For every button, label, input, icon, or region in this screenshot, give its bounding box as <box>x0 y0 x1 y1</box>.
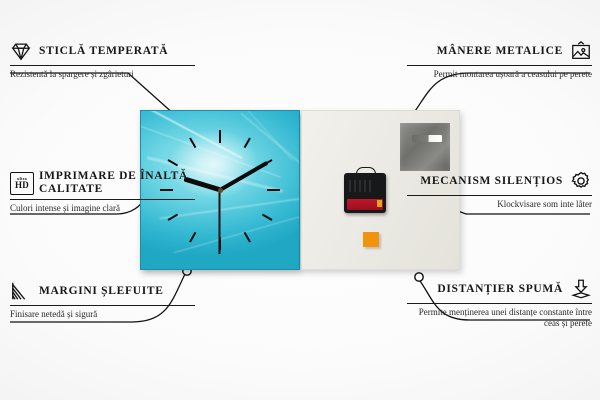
callout-subtitle: Permite menținerea unei distanțe constan… <box>407 307 592 329</box>
foam-spacer <box>363 232 379 247</box>
callout-subtitle: Finisare netedă și sigură <box>10 309 195 320</box>
clock-center-cap <box>218 188 223 193</box>
callout-head: MARGINI ȘLEFUITE <box>10 280 195 302</box>
foam-spacer-arrow-icon <box>570 278 592 300</box>
callout-mecanism-silentios: MECANISM SILENȚIOS Klockvisare som inte … <box>407 170 592 210</box>
callout-rule <box>10 305 195 306</box>
metal-hanger-plate <box>400 123 450 171</box>
badge-text-hd: HD <box>15 181 29 190</box>
callout-rule <box>407 195 592 196</box>
ultra-hd-badge-icon: ultra HD <box>10 172 32 194</box>
callout-subtitle: Culori intense și imagine clară <box>10 203 195 214</box>
callout-title: IMPRIMARE DE ÎNALTĂ CALITATE <box>39 170 195 196</box>
callout-head: STICLĂ TEMPERATĂ <box>10 40 195 62</box>
diamond-icon <box>10 40 32 62</box>
clock-tick <box>219 130 221 190</box>
callout-title: MECANISM SILENȚIOS <box>420 175 563 188</box>
callout-distantier-spuma: DISTANȚIER SPUMĂ Permite menținerea unei… <box>407 278 592 329</box>
callout-rule <box>407 303 592 304</box>
callout-title: MÂNERE METALICE <box>437 45 563 58</box>
callout-subtitle: Permit montarea ușoară a ceasului pe per… <box>407 69 592 80</box>
aa-battery <box>347 199 383 210</box>
callout-title: STICLĂ TEMPERATĂ <box>39 45 168 58</box>
gear-icon <box>570 170 592 192</box>
callout-rule <box>407 65 592 66</box>
callout-margini-slefuite: MARGINI ȘLEFUITE Finisare netedă și sigu… <box>10 280 195 320</box>
polished-edge-icon <box>10 280 32 302</box>
callout-rule <box>10 65 195 66</box>
callout-title: MARGINI ȘLEFUITE <box>39 285 164 298</box>
callout-subtitle: Rezistentă la spargere și zgârieturi <box>10 69 195 80</box>
clock-tick <box>220 189 280 191</box>
callout-head: MECANISM SILENȚIOS <box>407 170 592 192</box>
quartz-movement <box>344 173 386 213</box>
callout-imprimare-hd: ultra HD IMPRIMARE DE ÎNALTĂ CALITATE Cu… <box>10 170 195 214</box>
callout-head: DISTANȚIER SPUMĂ <box>407 278 592 300</box>
callout-subtitle: Klockvisare som inte låter <box>407 199 592 210</box>
callout-manere-metalice: MÂNERE METALICE Permit montarea ușoară a… <box>407 40 592 80</box>
callout-sticla-temperata: STICLĂ TEMPERATĂ Rezistentă la spargere … <box>10 40 195 80</box>
infographic-canvas: STICLĂ TEMPERATĂ Rezistentă la spargere … <box>0 0 600 400</box>
callout-title: DISTANȚIER SPUMĂ <box>437 283 563 296</box>
callout-head: ultra HD IMPRIMARE DE ÎNALTĂ CALITATE <box>10 170 195 196</box>
movement-housing-detail <box>349 180 371 192</box>
callout-rule <box>10 199 195 200</box>
callout-head: MÂNERE METALICE <box>407 40 592 62</box>
hanger-slot <box>412 135 442 142</box>
movement-hanger-loop <box>356 167 376 177</box>
battery-terminal <box>377 200 382 207</box>
picture-hanger-icon <box>570 40 592 62</box>
